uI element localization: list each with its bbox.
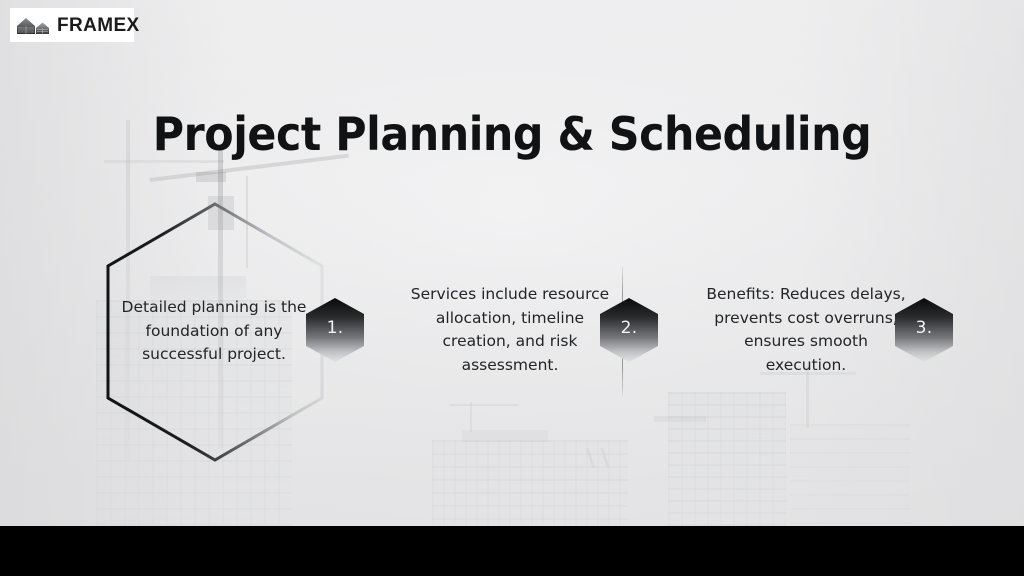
step-number-1: 1.	[327, 318, 344, 338]
logo-text: FRAMEX	[57, 16, 140, 35]
logo[interactable]: FRAMEX	[10, 8, 134, 42]
page-title: Project Planning & Scheduling	[36, 107, 988, 161]
step-number-2: 2.	[621, 318, 638, 338]
buildings-roof-icon	[16, 15, 50, 35]
slide-canvas: FRAMEX Project Planning & Scheduling Det…	[0, 0, 1024, 576]
column-text-1: Detailed planning is the foundation of a…	[110, 296, 318, 367]
footer-bar	[0, 526, 1024, 576]
step-badge-2[interactable]: 2.	[600, 298, 658, 362]
step-badge-3[interactable]: 3.	[895, 298, 953, 362]
column-text-3: Benefits: Reduces delays, prevents cost …	[704, 283, 908, 377]
column-text-2: Services include resource allocation, ti…	[408, 283, 612, 377]
step-number-3: 3.	[916, 318, 933, 338]
step-badge-1[interactable]: 1.	[306, 298, 364, 362]
